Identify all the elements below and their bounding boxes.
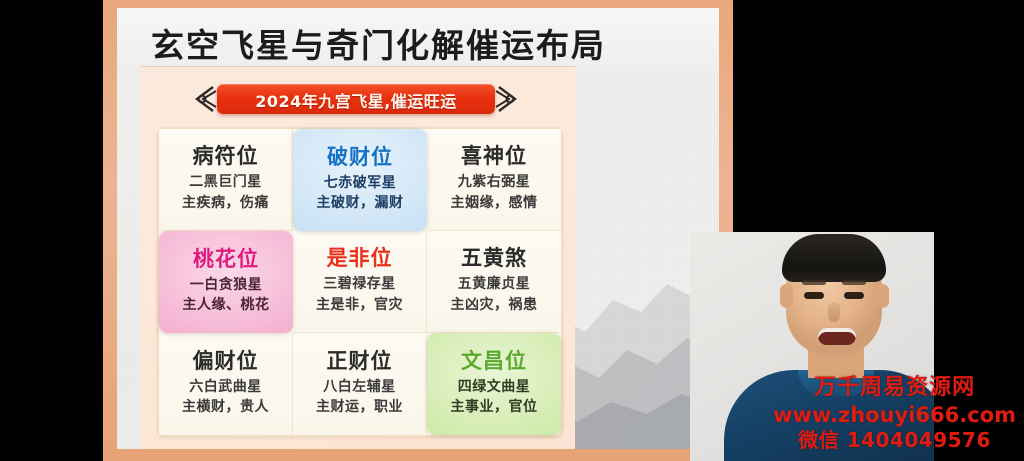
cell-line-2: 主姻缘，感情	[451, 193, 538, 213]
banner-label: 2024年九宫飞星,催运旺运	[217, 88, 495, 112]
presenter-ear-left	[780, 284, 793, 308]
grid-cell-wuhuangsha: 五黄煞 五黄廉贞星 主凶灾，祸患	[427, 231, 561, 333]
screenshot-root: 玄空飞星与奇门化解催运布局 2024年九宫飞星,催运旺运	[0, 0, 1024, 461]
cell-title: 是非位	[327, 248, 393, 269]
cell-title: 偏财位	[193, 351, 259, 372]
presenter-hair	[782, 234, 886, 282]
cell-line-1: 九紫右弼星	[458, 172, 531, 192]
grid-cell-pocai: 破财位 七赤破军星 主破财，漏财	[293, 129, 427, 231]
ornament-icon	[191, 85, 217, 113]
cell-line-1: 五黄廉贞星	[458, 274, 531, 294]
cell-line-2: 主横财，贵人	[182, 397, 269, 417]
presenter-eye-left	[804, 292, 824, 299]
slide-title-band: 玄空飞星与奇门化解催运布局	[117, 8, 719, 72]
presenter-brow-left	[802, 280, 826, 285]
cell-line-2: 主凶灾，祸患	[451, 295, 538, 315]
cell-line-1: 四绿文曲星	[458, 377, 531, 397]
nine-palace-grid: 病符位 二黑巨门星 主疾病，伤痛 破财位 七赤破军星 主破财，漏财 喜神位 九紫…	[157, 127, 563, 437]
slide-viewport: 玄空飞星与奇门化解催运布局 2024年九宫飞星,催运旺运	[117, 8, 719, 449]
cell-line-2: 主人缘、桃花	[183, 295, 270, 315]
cell-line-2: 主事业，官位	[451, 397, 538, 417]
grid-cell-taohua: 桃花位 一白贪狼星 主人缘、桃花	[159, 231, 293, 333]
cell-line-1: 三碧禄存星	[323, 274, 396, 294]
cell-line-2: 主破财，漏财	[317, 193, 404, 213]
cell-title: 五黄煞	[461, 248, 527, 269]
cell-line-2: 主疾病，伤痛	[182, 193, 269, 213]
cell-line-2: 主是非，官灾	[316, 295, 403, 315]
cell-title: 破财位	[327, 147, 393, 168]
cell-line-1: 八白左辅星	[323, 377, 396, 397]
watermark-site-name: 万千周易资源网	[773, 374, 1016, 402]
cell-title: 病符位	[193, 146, 259, 167]
presenter-brow-right	[842, 280, 866, 285]
page-title: 玄空飞星与奇门化解催运布局	[151, 19, 606, 67]
grid-cell-xishen: 喜神位 九紫右弼星 主姻缘，感情	[427, 129, 561, 231]
content-card: 2024年九宫飞星,催运旺运 病符位 二黑巨门星 主	[141, 66, 575, 449]
presenter-nose	[828, 302, 840, 322]
cell-title: 文昌位	[461, 351, 527, 372]
slide-frame: 玄空飞星与奇门化解催运布局 2024年九宫飞星,催运旺运	[103, 0, 733, 461]
cell-line-1: 六白武曲星	[189, 377, 262, 397]
presenter-eye-right	[844, 292, 864, 299]
cell-line-1: 七赤破军星	[324, 173, 397, 193]
grid-cell-wenchang: 文昌位 四绿文曲星 主事业，官位	[427, 333, 561, 435]
banner: 2024年九宫飞星,催运旺运	[191, 81, 521, 117]
presenter-ear-right	[876, 284, 889, 308]
cell-title: 喜神位	[461, 146, 527, 167]
cell-title: 桃花位	[193, 249, 259, 270]
ornament-icon	[495, 85, 521, 113]
presenter-mouth	[818, 328, 856, 345]
presentation-slide: 玄空飞星与奇门化解催运布局 2024年九宫飞星,催运旺运	[117, 8, 719, 449]
grid-cell-piancai: 偏财位 六白武曲星 主横财，贵人	[159, 333, 293, 435]
grid-cell-bingfu: 病符位 二黑巨门星 主疾病，伤痛	[159, 129, 293, 231]
cell-line-2: 主财运，职业	[316, 397, 403, 417]
presenter-video-panel: 万千周易资源网 www.zhouyi666.com 微信 1404049576	[733, 0, 1024, 461]
watermark-wechat: 微信 1404049576	[773, 428, 1016, 453]
grid-cell-zhengcai: 正财位 八白左辅星 主财运，职业	[293, 333, 427, 435]
cell-line-1: 一白贪狼星	[190, 275, 263, 295]
watermark-url: www.zhouyi666.com	[773, 402, 1016, 428]
watermark: 万千周易资源网 www.zhouyi666.com 微信 1404049576	[773, 374, 1016, 453]
banner-pill: 2024年九宫飞星,催运旺运	[217, 84, 495, 114]
grid-cell-shifei: 是非位 三碧禄存星 主是非，官灾	[293, 231, 427, 333]
cell-line-1: 二黑巨门星	[189, 172, 262, 192]
cell-title: 正财位	[327, 351, 393, 372]
